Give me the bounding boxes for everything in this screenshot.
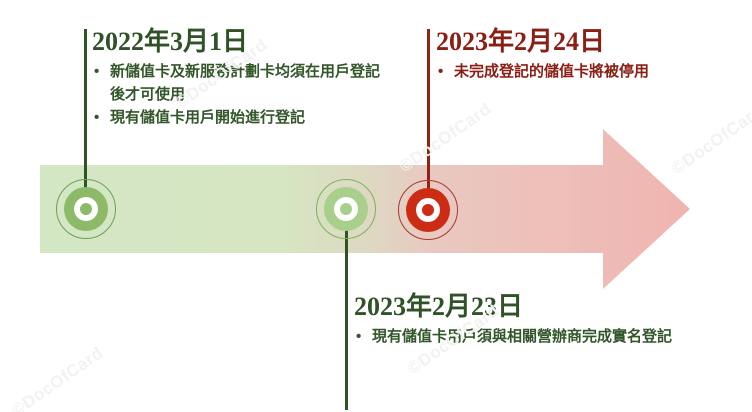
milestone-3-heading: 2023年2月24日 [436,27,666,57]
milestone-1-bullet-2-text: 現有儲值卡用戶開始進行登記 [110,109,305,126]
list-item: • 現有儲值卡用戶開始進行登記 [92,106,392,129]
bullet-glyph-icon: • [438,60,443,83]
list-item: • 現有儲值卡用戶須與相關營辦商完成實名登記 [354,325,694,348]
watermark: ©DocOfCard [396,99,495,177]
milestone-2-heading: 2023年2月23日 [354,292,694,322]
milestone-3-bullet-list: • 未完成登記的儲值卡將被停用 [436,60,666,83]
timeline-marker-milestone-1[interactable] [55,178,117,240]
marker-center-dot-icon [340,203,352,215]
timeline-infographic: 2022年3月1日 • 新儲值卡及新服務計劃卡均須在用戶登記後才可使用 • 現有… [0,0,752,412]
milestone-2-bullet-list: • 現有儲值卡用戶須與相關營辦商完成實名登記 [354,325,694,348]
bullet-glyph-icon: • [94,106,99,129]
list-item: • 未完成登記的儲值卡將被停用 [436,60,666,83]
list-item: • 新儲值卡及新服務計劃卡均須在用戶登記後才可使用 [92,60,392,106]
milestone-2-bullet-1-text: 現有儲值卡用戶須與相關營辦商完成實名登記 [372,328,672,345]
milestone-1-bullet-list: • 新儲值卡及新服務計劃卡均須在用戶登記後才可使用 • 現有儲值卡用戶開始進行登… [92,60,392,129]
watermark: ©DocOfCard [668,101,752,179]
marker-center-dot-icon [422,204,434,216]
timeline-marker-milestone-2[interactable] [315,178,377,240]
marker-center-dot-icon [80,203,92,215]
timeline-marker-milestone-3[interactable] [397,179,459,241]
milestone-3-bullet-1-text: 未完成登記的儲值卡將被停用 [454,63,649,80]
watermark: ©DocOfCard [8,343,107,412]
milestone-block-2: 2023年2月23日 • 現有儲值卡用戶須與相關營辦商完成實名登記 [354,292,694,348]
milestone-block-3: 2023年2月24日 • 未完成登記的儲值卡將被停用 [436,27,666,83]
bullet-glyph-icon: • [94,60,99,83]
milestone-1-heading: 2022年3月1日 [92,27,392,57]
milestone-1-bullet-1-text: 新儲值卡及新服務計劃卡均須在用戶登記後才可使用 [110,63,380,103]
milestone-block-1: 2022年3月1日 • 新儲值卡及新服務計劃卡均須在用戶登記後才可使用 • 現有… [92,27,392,129]
bullet-glyph-icon: • [356,325,361,348]
